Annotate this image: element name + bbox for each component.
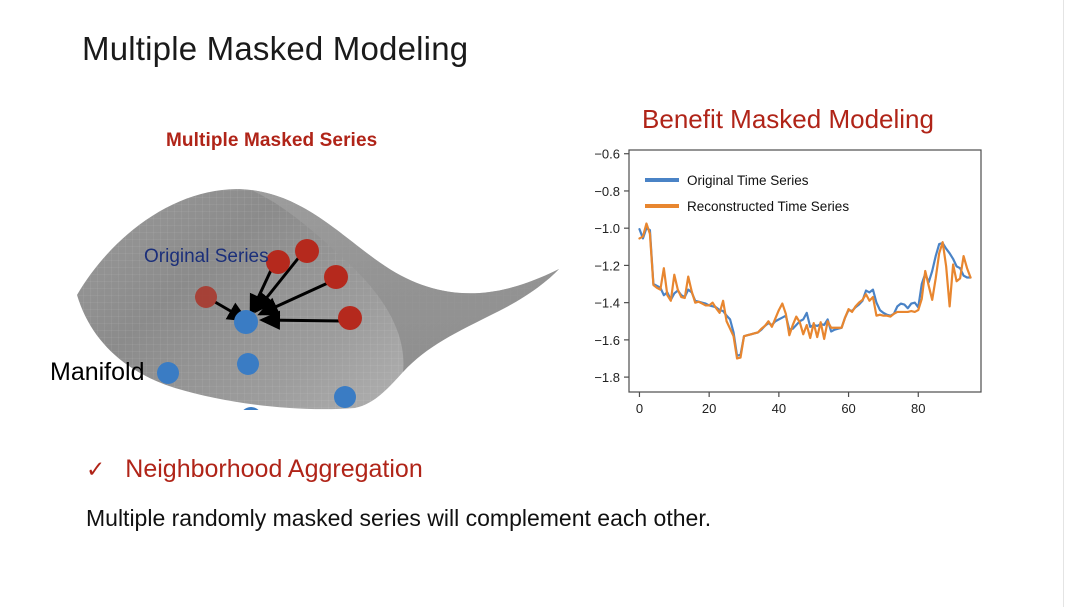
y-tick-label: −1.2 (594, 258, 620, 273)
bullet-heading-row: ✓ Neighborhood Aggregation (86, 455, 423, 484)
x-tick-label: 40 (772, 401, 786, 416)
chart-plot-svg: −0.6−0.8−1.0−1.2−1.4−1.6−1.8020406080Ori… (583, 142, 993, 432)
original-series-label: Original Series (144, 246, 269, 268)
legend-label: Original Time Series (687, 173, 809, 188)
masked-series-label: Multiple Masked Series (166, 130, 377, 152)
y-tick-label: −1.8 (594, 370, 620, 385)
x-tick-label: 20 (702, 401, 716, 416)
page-title: Multiple Masked Modeling (82, 30, 468, 68)
chart-title: Benefit Masked Modeling (583, 104, 993, 135)
x-tick-label: 0 (636, 401, 643, 416)
y-tick-label: −1.0 (594, 221, 620, 236)
body-paragraph: Multiple randomly masked series will com… (86, 505, 711, 532)
y-tick-label: −0.6 (594, 147, 620, 162)
manifold-label: Manifold (50, 358, 145, 387)
y-tick-label: −0.8 (594, 184, 620, 199)
slide-canvas: Multiple Masked Modeling (0, 0, 1080, 607)
original-series-point (234, 310, 258, 334)
bullet-heading: Neighborhood Aggregation (125, 455, 422, 484)
benefit-chart: Benefit Masked Modeling −0.6−0.8−1.0−1.2… (583, 104, 993, 434)
x-tick-label: 60 (841, 401, 855, 416)
manifold-sheet (77, 189, 559, 409)
y-tick-label: −1.4 (594, 296, 620, 311)
legend-label: Reconstructed Time Series (687, 199, 849, 214)
y-tick-label: −1.6 (594, 333, 620, 348)
checkmark-icon: ✓ (86, 458, 105, 481)
x-tick-label: 80 (911, 401, 925, 416)
slide-right-edge (1063, 0, 1064, 607)
